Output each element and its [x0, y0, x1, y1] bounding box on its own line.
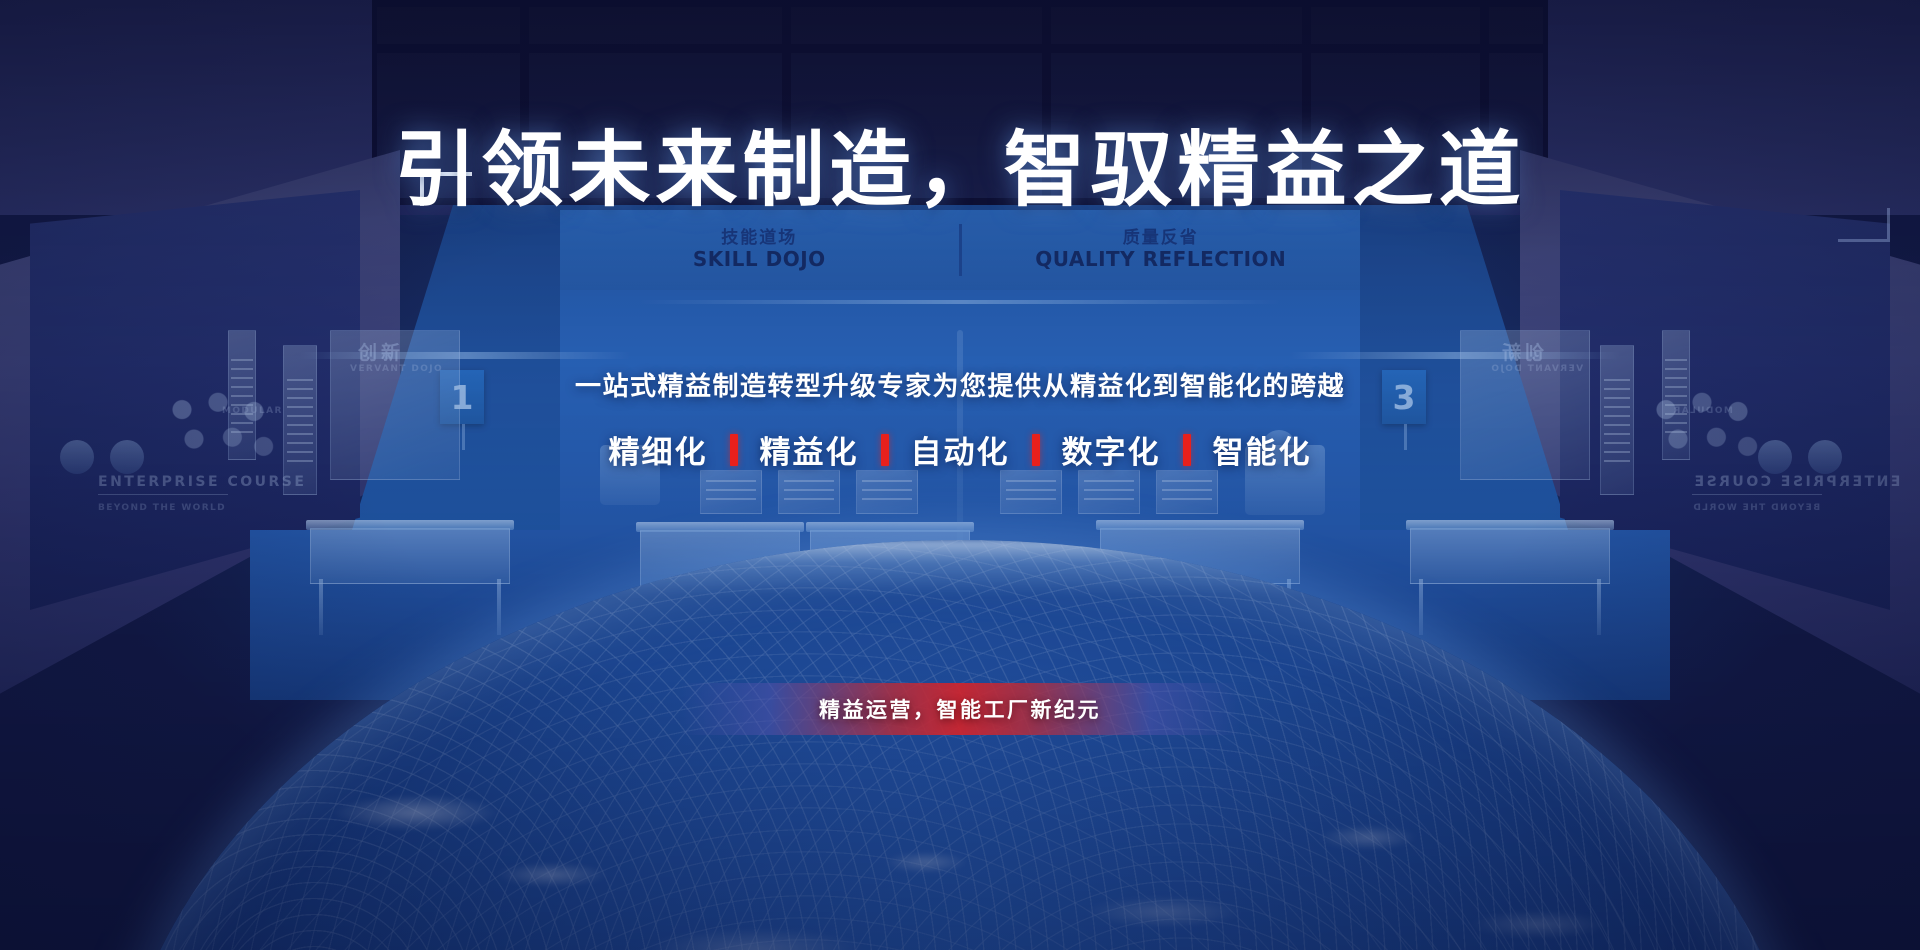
keyword-list: 精细化 精益化 自动化 数字化 智能化 — [0, 427, 1920, 472]
keyword-item: 自动化 — [911, 427, 1010, 472]
keyword-item: 智能化 — [1213, 427, 1312, 472]
tagline-text: 精益运营，智能工厂新纪元 — [819, 694, 1101, 724]
keyword-item: 数字化 — [1062, 427, 1161, 472]
keyword-separator-icon — [730, 434, 738, 466]
keyword-item: 精益化 — [760, 427, 859, 472]
keyword-separator-icon — [881, 434, 889, 466]
foreground-layer: 引领未来制造，智驭精益之道 一站式精益制造转型升级专家为您提供从精益化到智能化的… — [0, 0, 1920, 950]
keyword-item: 精细化 — [609, 427, 708, 472]
hero-banner: 技能道场 SKILL DOJO 质量反省 QUALITY REFLECTION … — [0, 0, 1920, 950]
page-subtitle: 一站式精益制造转型升级专家为您提供从精益化到智能化的跨越 — [0, 366, 1920, 403]
tagline-ribbon: 精益运营，智能工厂新纪元 — [680, 683, 1240, 735]
keyword-separator-icon — [1032, 434, 1040, 466]
keyword-separator-icon — [1183, 434, 1191, 466]
page-title: 引领未来制造，智驭精益之道 — [0, 128, 1920, 215]
